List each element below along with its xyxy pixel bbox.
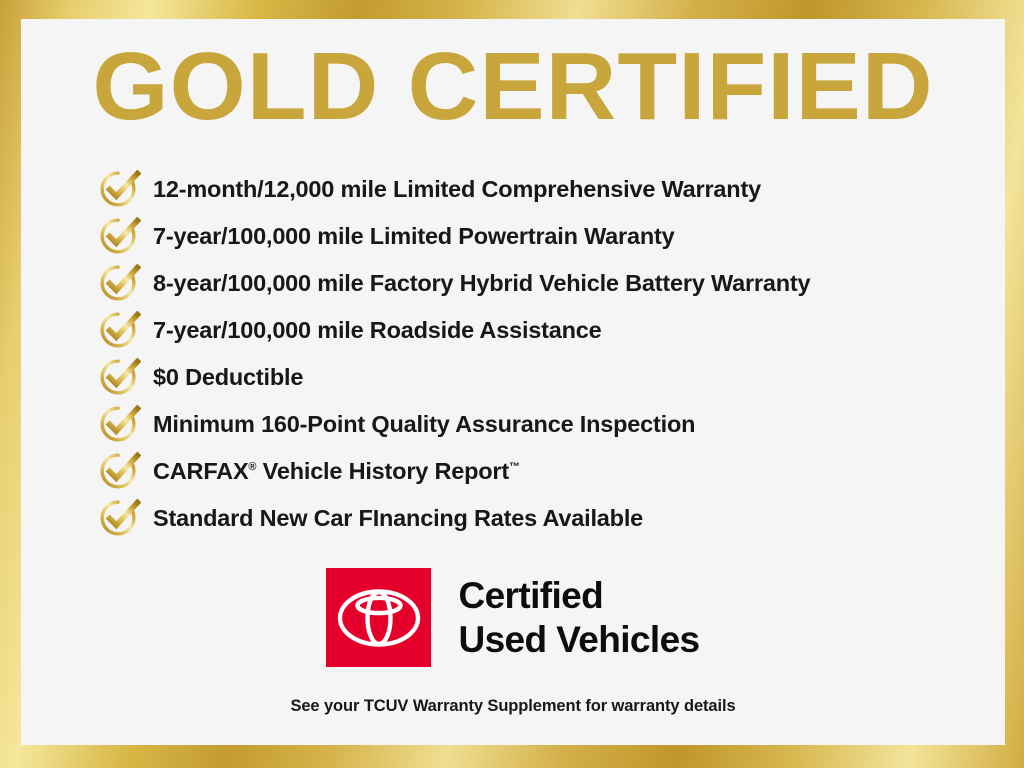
feature-label: 7-year/100,000 mile Roadside Assistance xyxy=(153,316,602,344)
trademark-icon: ™ xyxy=(509,461,520,473)
brand-line-certified: Certified xyxy=(458,574,699,618)
feature-label: 8-year/100,000 mile Factory Hybrid Vehic… xyxy=(153,269,810,297)
feature-list: 12-month/12,000 mile Limited Comprehensi… xyxy=(97,165,997,541)
list-item: CARFAX® Vehicle History Report™ xyxy=(97,447,997,494)
toyota-logo-tile xyxy=(326,568,431,667)
feature-label: Minimum 160-Point Quality Assurance Insp… xyxy=(153,410,695,438)
feature-label: $0 Deductible xyxy=(153,363,303,391)
gold-check-circle-icon xyxy=(97,357,141,397)
list-item: 7-year/100,000 mile Limited Powertrain W… xyxy=(97,212,997,259)
brand-line-used-vehicles: Used Vehicles xyxy=(458,618,699,662)
gold-certified-badge-frame: GOLD CERTIFIED xyxy=(0,0,1024,768)
feature-label-carfax: CARFAX® Vehicle History Report™ xyxy=(153,457,520,485)
feature-label: 7-year/100,000 mile Limited Powertrain W… xyxy=(153,222,675,250)
toyota-emblem-icon xyxy=(337,588,421,648)
gold-check-circle-icon xyxy=(97,404,141,444)
gold-check-circle-icon xyxy=(97,451,141,491)
list-item: 12-month/12,000 mile Limited Comprehensi… xyxy=(97,165,997,212)
brand-wordmark: Certified Used Vehicles xyxy=(458,574,699,662)
list-item: $0 Deductible xyxy=(97,353,997,400)
gold-check-circle-icon xyxy=(97,216,141,256)
feature-label: 12-month/12,000 mile Limited Comprehensi… xyxy=(153,175,761,203)
carfax-wordmark: CARFAX xyxy=(153,458,248,484)
list-item: 8-year/100,000 mile Factory Hybrid Vehic… xyxy=(97,259,997,306)
toyota-certified-used-vehicles-lockup: Certified Used Vehicles xyxy=(21,568,1005,667)
carfax-report-label: Vehicle History Report xyxy=(256,458,509,484)
gold-check-circle-icon xyxy=(97,310,141,350)
badge-card: GOLD CERTIFIED xyxy=(21,19,1005,745)
page-title: GOLD CERTIFIED xyxy=(21,35,1005,139)
feature-label: Standard New Car FInancing Rates Availab… xyxy=(153,504,643,532)
list-item: Minimum 160-Point Quality Assurance Insp… xyxy=(97,400,997,447)
gold-check-circle-icon xyxy=(97,263,141,303)
gold-check-circle-icon xyxy=(97,498,141,538)
list-item: Standard New Car FInancing Rates Availab… xyxy=(97,494,997,541)
warranty-disclaimer: See your TCUV Warranty Supplement for wa… xyxy=(21,695,1005,717)
gold-check-circle-icon xyxy=(97,169,141,209)
list-item: 7-year/100,000 mile Roadside Assistance xyxy=(97,306,997,353)
